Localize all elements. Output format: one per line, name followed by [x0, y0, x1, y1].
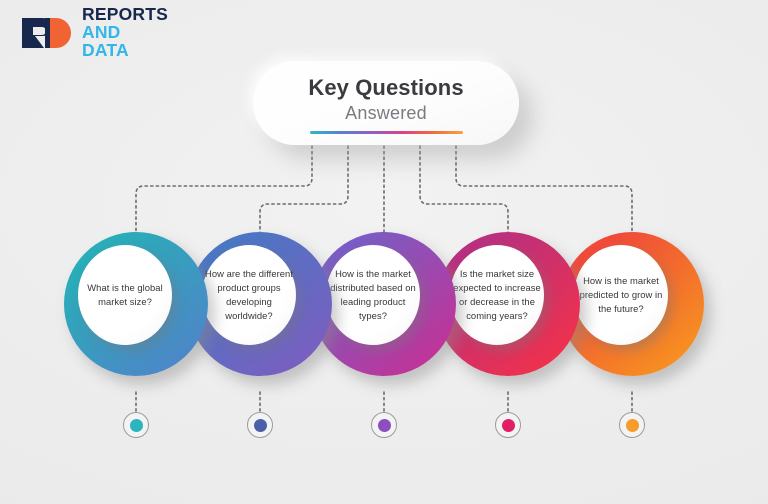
question-node-5[interactable]: How is the market predicted to grow in t… [560, 232, 704, 376]
node-label-2: How are the different product groups dev… [202, 245, 296, 345]
page-title: Key Questions [308, 76, 463, 100]
node-label-1: What is the global market size? [78, 245, 172, 345]
gradient-rule [310, 131, 463, 134]
logo-wordmark: REPORTS AND DATA [82, 6, 170, 60]
node-label-3: How is the market distributed based on l… [326, 245, 420, 345]
legend-dot-5 [626, 419, 639, 432]
rd-monogram-icon [20, 16, 76, 50]
connector-path-2 [260, 146, 348, 240]
legend-marker-4[interactable] [495, 412, 521, 438]
connector-path-4 [420, 146, 508, 240]
title-card: Key Questions Answered [253, 61, 519, 145]
node-label-4: Is the market size expected to increase … [450, 245, 544, 345]
question-node-4[interactable]: Is the market size expected to increase … [436, 232, 580, 376]
question-node-1[interactable]: What is the global market size? [64, 232, 208, 376]
node-label-5: How is the market predicted to grow in t… [574, 245, 668, 345]
question-node-2[interactable]: How are the different product groups dev… [188, 232, 332, 376]
legend-marker-2[interactable] [247, 412, 273, 438]
question-circle-row: What is the global market size? How are … [0, 232, 768, 382]
brand-logo: REPORTS AND DATA [20, 12, 170, 54]
legend-marker-3[interactable] [371, 412, 397, 438]
logo-line-and-data: AND DATA [82, 24, 170, 60]
legend-marker-row [0, 412, 768, 452]
infographic-canvas: REPORTS AND DATA Key Questions Answered … [0, 0, 768, 504]
legend-marker-1[interactable] [123, 412, 149, 438]
legend-dot-1 [130, 419, 143, 432]
connector-path-5 [456, 146, 632, 240]
connector-path-1 [136, 146, 312, 240]
legend-dot-3 [378, 419, 391, 432]
question-node-3[interactable]: How is the market distributed based on l… [312, 232, 456, 376]
legend-marker-5[interactable] [619, 412, 645, 438]
legend-dot-2 [254, 419, 267, 432]
page-subtitle: Answered [345, 102, 427, 125]
legend-dot-4 [502, 419, 515, 432]
